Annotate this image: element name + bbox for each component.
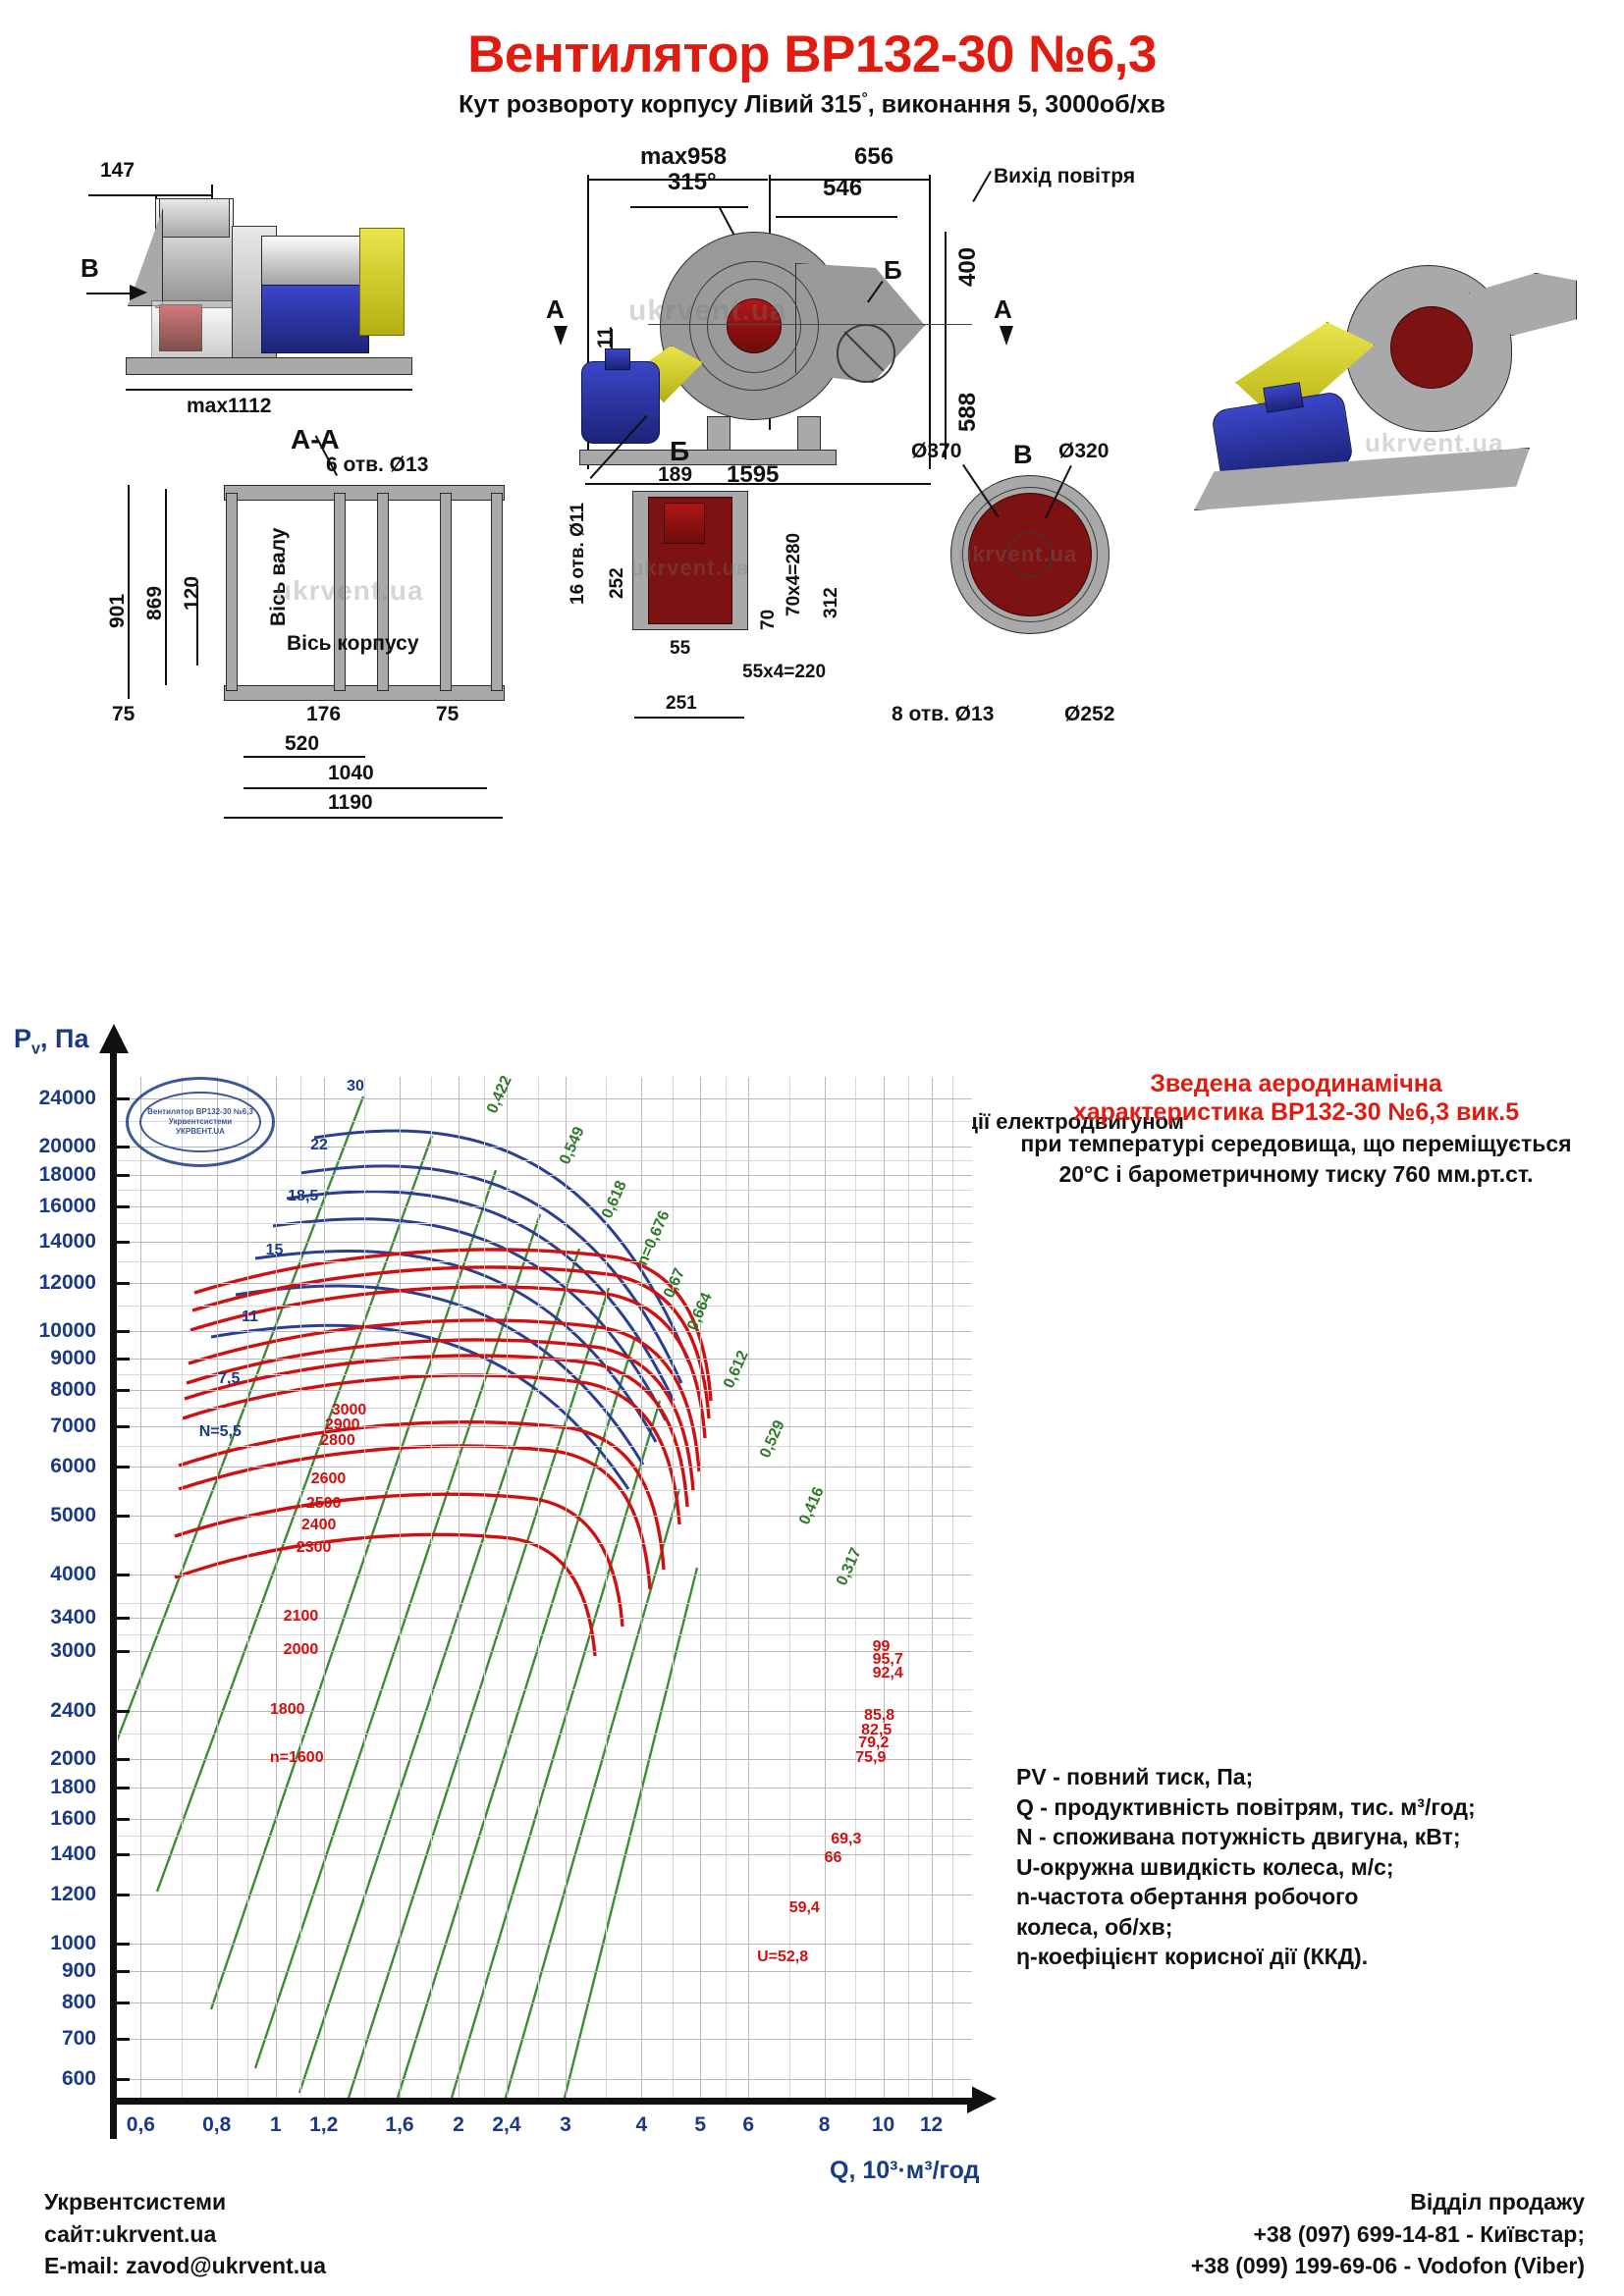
- chart-gridline-vertical: [641, 1077, 642, 2098]
- y-axis-tick-mark: [116, 1330, 130, 1333]
- chart-gridline-horizontal-minor: [118, 1446, 972, 1447]
- y-axis-tick-label: 900: [62, 1959, 96, 1983]
- chart-plot-area: [118, 1077, 972, 2098]
- legend-item-u: U-окружна швидкість колеса, м/с;: [1016, 1852, 1476, 1883]
- y-axis-tick-mark: [116, 1818, 130, 1821]
- chart-title-line1: Зведена аеродинамічна: [1001, 1070, 1591, 1098]
- chart-gridline-horizontal-minor: [118, 1543, 972, 1544]
- y-axis-tick-label: 12000: [39, 1271, 96, 1295]
- y-axis-tick-mark: [116, 1389, 130, 1392]
- chart-gridline-horizontal-minor: [118, 1374, 972, 1375]
- axis-body-label: Вісь корпусу: [287, 632, 419, 656]
- rpm-curve-label: 2000: [284, 1641, 319, 1659]
- chart-gridline-horizontal-minor: [118, 1490, 972, 1491]
- y-axis-tick-mark: [116, 1146, 130, 1148]
- view-arrow-B-line: [86, 293, 134, 294]
- chart-curves-svg: [118, 1077, 972, 2098]
- dim-line-147: [88, 194, 211, 196]
- chart-gridline-vertical-minor: [673, 1077, 674, 2098]
- chart-gridline-vertical: [140, 1077, 141, 2098]
- x-axis-tick-label: 2,4: [492, 2113, 520, 2137]
- dim-11: 11: [594, 327, 618, 348]
- y-axis-tick-label: 5000: [50, 1504, 96, 1527]
- chart-gridline-horizontal: [118, 1206, 972, 1207]
- chart-gridline-horizontal: [118, 1854, 972, 1855]
- dim-75-right: 75: [436, 703, 459, 726]
- chart-gridline-vertical-minor: [247, 1077, 248, 2098]
- x-axis: [110, 2098, 974, 2105]
- chart-gridline-vertical: [400, 1077, 401, 2098]
- tip-speed-label: 66: [825, 1849, 842, 1867]
- dim-252: 252: [607, 567, 628, 599]
- frame-top-rail: [224, 485, 505, 501]
- rpm-curve-label: 2400: [301, 1517, 337, 1534]
- dim-147: 147: [100, 159, 135, 183]
- frame-post-3: [377, 493, 389, 691]
- dim-176: 176: [306, 703, 341, 726]
- chart-gridline-horizontal: [118, 1944, 972, 1945]
- chart-gridline-vertical: [276, 1077, 277, 2098]
- side-view-motor: [261, 285, 369, 353]
- y-axis-tick-label: 4000: [50, 1563, 96, 1586]
- leader-16-holes: [590, 415, 648, 479]
- dim-400: 400: [954, 247, 982, 287]
- dim-1190: 1190: [328, 791, 373, 815]
- tip-speed-label: U=52,8: [757, 1949, 808, 1966]
- stamp-line-2: Укрвентсистеми: [169, 1117, 232, 1127]
- iso-inlet-cone: [1390, 306, 1473, 389]
- y-axis-tick-mark: [116, 1358, 130, 1361]
- chart-gridline-vertical-minor: [364, 1077, 365, 2098]
- legend-item-n-rpm-1: n-частота обертання робочого: [1016, 1882, 1476, 1912]
- company-stamp: Вентилятор ВР132-30 №6,3 Укрвентсистеми …: [126, 1077, 275, 1167]
- section-A-arrow-left: [554, 326, 568, 346]
- chart-gridline-horizontal-minor: [118, 1603, 972, 1604]
- section-AA-drawing: A-A 6 отв. Ø13 901 869 120 Вісь валу Віс…: [98, 402, 550, 825]
- chart-gridline-horizontal: [118, 1618, 972, 1619]
- chart-gridline-vertical-minor: [538, 1077, 539, 2098]
- chart-gridline-horizontal-minor: [118, 1634, 972, 1635]
- outlet-label: Вихід повітря: [994, 165, 1135, 188]
- x-axis-tick-label: 2: [453, 2113, 464, 2137]
- chart-gridline-horizontal: [118, 1467, 972, 1468]
- detail-B-inner-box: [664, 503, 705, 544]
- chart-gridline-horizontal: [118, 1242, 972, 1243]
- dim-16-holes-11: 16 отв. Ø11: [568, 503, 589, 605]
- chart-gridline-vertical-minor: [606, 1077, 607, 2098]
- chart-gridline-horizontal: [118, 1895, 972, 1896]
- power-curve-label: 18,5: [288, 1188, 318, 1205]
- detail-B-drawing: Б 189 16 отв. Ø11 252 70х4=280 312 70 55…: [560, 422, 884, 756]
- chart-gridline-vertical: [507, 1077, 508, 2098]
- x-axis-tick-label: 5: [694, 2113, 706, 2137]
- page-subtitle: Кут розвороту корпусу Лівий 315°, викона…: [0, 90, 1624, 119]
- dim-252: Ø252: [1064, 703, 1114, 726]
- frame-post-5: [491, 493, 503, 691]
- dim-70: 70: [758, 610, 780, 630]
- dim-line-546: [776, 216, 897, 218]
- company-stamp-inner: Вентилятор ВР132-30 №6,3 Укрвентсистеми …: [139, 1092, 261, 1152]
- chart-gridline-horizontal: [118, 2039, 972, 2040]
- y-axis-tick-label: 2400: [50, 1699, 96, 1723]
- y-axis-tick-label: 9000: [50, 1347, 96, 1370]
- x-axis-tick-label: 4: [635, 2113, 647, 2137]
- chart-gridline-vertical-minor: [182, 1077, 183, 2098]
- y-axis-tick-mark: [116, 1241, 130, 1244]
- dim-546: 546: [823, 175, 862, 202]
- chart-legend-block: PV - повний тиск, Па; Q - продуктивність…: [1016, 1762, 1476, 1972]
- chart-gridline-horizontal-minor: [118, 1261, 972, 1262]
- view-V-drawing: В Ø370 Ø320 Ø252 8 отв. Ø13 ukrvent.ua: [884, 422, 1178, 736]
- dim-6-holes-13: 6 отв. Ø13: [326, 454, 428, 477]
- x-axis-tick-label: 3: [560, 2113, 571, 2137]
- power-curve-label: 22: [310, 1137, 328, 1154]
- dim-55: 55: [670, 638, 690, 660]
- y-axis-tick-mark: [116, 1097, 130, 1100]
- tip-speed-label: 92,4: [873, 1665, 903, 1682]
- chart-title-line2: характеристика ВР132-30 №6,3 вик.5: [1001, 1098, 1591, 1127]
- frame-post-1: [226, 493, 238, 691]
- page-footer: Укрвентсистеми сайт:ukrvent.ua E-mail: z…: [0, 2174, 1624, 2296]
- footer-phone-1[interactable]: +38 (097) 699-14-81 - Київстар;: [1191, 2218, 1585, 2251]
- dim-line-1190: [224, 817, 503, 819]
- frame-post-2: [334, 493, 346, 691]
- dim-251: 251: [666, 693, 697, 715]
- chart-gridline-horizontal-minor: [118, 1306, 972, 1307]
- chart-gridline-horizontal: [118, 1359, 972, 1360]
- legend-item-n-power: N - споживана потужність двигуна, кВт;: [1016, 1822, 1476, 1852]
- chart-gridline-horizontal: [118, 1283, 972, 1284]
- footer-sales-block: Відділ продажу +38 (097) 699-14-81 - Киї…: [1191, 2186, 1585, 2282]
- y-axis-tick-mark: [116, 1787, 130, 1789]
- power-curve-label: 11: [242, 1308, 258, 1326]
- subtitle-pre: Кут розвороту корпусу Лівий 315: [459, 90, 861, 118]
- chart-gridline-horizontal: [118, 1331, 972, 1332]
- y-axis-tick-label: 6000: [50, 1455, 96, 1478]
- y-axis-tick-label: 14000: [39, 1230, 96, 1254]
- chart-gridline-horizontal-minor: [118, 1689, 972, 1690]
- x-axis-tick-label: 1,2: [309, 2113, 338, 2137]
- y-axis-tick-mark: [116, 1943, 130, 1946]
- efficiency-lines: [118, 1096, 697, 2098]
- view-V-hub-circle: [1007, 532, 1053, 577]
- y-axis-tick-label: 16000: [39, 1195, 96, 1218]
- y-axis-tick-mark: [116, 1205, 130, 1208]
- page-header: Вентилятор ВР132-30 №6,3 Кут розвороту к…: [0, 27, 1624, 119]
- chart-gridline-vertical-minor: [908, 1077, 909, 2098]
- power-curve-label: N=5,5: [199, 1423, 242, 1441]
- x-axis-tick-label: 0,8: [202, 2113, 231, 2137]
- x-axis-tick-label: 0,6: [127, 2113, 155, 2137]
- tip-speed-label: 69,3: [831, 1831, 861, 1848]
- footer-website[interactable]: сайт:ukrvent.ua: [44, 2218, 326, 2251]
- chart-gridline-vertical-minor: [855, 1077, 856, 2098]
- chart-gridline-horizontal: [118, 1759, 972, 1760]
- chart-gridline-horizontal: [118, 1788, 972, 1789]
- stamp-line-1: Вентилятор ВР132-30 №6,3: [147, 1107, 253, 1117]
- dim-312: 312: [821, 587, 842, 618]
- view-V-title: В: [1013, 440, 1033, 470]
- tip-speed-label: 75,9: [855, 1749, 886, 1767]
- y-axis-tick-mark: [116, 2002, 130, 2004]
- y-axis-tick-label: 700: [62, 2027, 96, 2051]
- chart-gridline-horizontal: [118, 1390, 972, 1391]
- legend-item-q: Q - продуктивність повітрям, тис. м³/год…: [1016, 1792, 1476, 1823]
- section-A-left: A: [546, 294, 565, 325]
- dim-line-max1112: [126, 389, 412, 391]
- rpm-curve-label: 2100: [284, 1608, 319, 1626]
- chart-gridline-horizontal: [118, 1651, 972, 1652]
- y-axis-tick-mark: [116, 1466, 130, 1468]
- chart-gridline-horizontal-minor: [118, 1190, 972, 1191]
- chart-gridline-horizontal: [118, 1175, 972, 1176]
- chart-gridline-horizontal-minor: [118, 1734, 972, 1735]
- chart-gridline-horizontal: [118, 1516, 972, 1517]
- dim-8-holes-13: 8 отв. Ø13: [892, 703, 994, 726]
- section-AA-title: A-A: [291, 424, 340, 455]
- chart-gridline-vertical: [459, 1077, 460, 2098]
- isometric-view: ukrvent.ua: [1159, 255, 1581, 550]
- chart-gridline-vertical: [825, 1077, 826, 2098]
- axis-shaft-label: Вісь валу: [267, 528, 291, 626]
- y-axis-tick-label: 8000: [50, 1378, 96, 1402]
- chart-gridline-vertical-minor: [726, 1077, 727, 2098]
- y-axis-tick-mark: [116, 1174, 130, 1177]
- chart-gridline-vertical-minor: [952, 1077, 953, 2098]
- y-axis-tick-label: 800: [62, 1991, 96, 2014]
- chart-gridline-vertical-minor: [431, 1077, 432, 2098]
- section-A-right: A: [994, 294, 1012, 325]
- tip-speed-label: 59,4: [789, 1899, 820, 1917]
- view-mark-B: В: [81, 253, 99, 284]
- y-axis-tick-mark: [116, 1853, 130, 1856]
- chart-gridline-vertical: [748, 1077, 749, 2098]
- legend-item-n-rpm-2: колеса, об/хв;: [1016, 1912, 1476, 1943]
- dim-line-869: [165, 489, 167, 685]
- y-axis-tick-mark: [116, 2078, 130, 2081]
- y-axis-tick-mark: [116, 1650, 130, 1653]
- subtitle-post: , виконання 5, 3000об/хв: [868, 90, 1165, 118]
- dim-max958: max958: [640, 143, 727, 171]
- y-axis-tick-mark: [116, 1710, 130, 1713]
- chart-gridline-horizontal-minor: [118, 1223, 972, 1224]
- chart-gridline-horizontal: [118, 2002, 972, 2003]
- y-axis-tick-mark: [116, 1970, 130, 1973]
- chart-gridline-horizontal-minor: [118, 1408, 972, 1409]
- chart-subtitle-line1: при температурі середовища, що переміщує…: [1001, 1131, 1591, 1158]
- chart-gridline-horizontal: [118, 1426, 972, 1427]
- dim-189: 189: [658, 463, 692, 487]
- motor-terminal-box: [605, 348, 630, 370]
- rpm-curve-label: 2800: [320, 1432, 355, 1450]
- chart-gridline-vertical-minor: [484, 1077, 485, 2098]
- page-title: Вентилятор ВР132-30 №6,3: [0, 27, 1624, 82]
- y-axis-tick-label: 3000: [50, 1639, 96, 1663]
- footer-phone-2[interactable]: +38 (099) 199-69-06 - Vodofon (Viber): [1191, 2250, 1585, 2282]
- rpm-curve-label: n=1600: [270, 1749, 324, 1767]
- power-curve-label: 7,5: [218, 1370, 240, 1388]
- y-axis-tick-label: 1400: [50, 1842, 96, 1866]
- dim-220: 55х4=220: [742, 662, 826, 683]
- legend-item-eta: η-коефіцієнт корисної дії (ККД).: [1016, 1942, 1476, 1972]
- x-axis-tick-label: 12: [920, 2113, 943, 2137]
- legend-item-pv: PV - повний тиск, Па;: [1016, 1762, 1476, 1792]
- rpm-curve-label: 1800: [270, 1701, 305, 1719]
- chart-gridline-vertical: [932, 1077, 933, 2098]
- dim-120: 120: [181, 576, 204, 611]
- watermark-AA: ukrvent.ua: [275, 575, 424, 607]
- dim-520: 520: [285, 732, 319, 756]
- footer-company-name: Укрвентсистеми: [44, 2186, 326, 2218]
- side-view-housing-top: [159, 198, 230, 238]
- y-axis-tick-label: 1200: [50, 1883, 96, 1906]
- chart-gridline-vertical: [700, 1077, 701, 2098]
- y-axis-tick-mark: [116, 1617, 130, 1620]
- section-A-arrow-right: [1000, 326, 1013, 346]
- frame-post-4: [440, 493, 452, 691]
- x-axis-tick-label: 1,6: [385, 2113, 413, 2137]
- dim-656: 656: [854, 143, 893, 171]
- dim-line-901: [128, 485, 130, 699]
- chart-gridline-vertical-minor: [789, 1077, 790, 2098]
- y-axis-tick-mark: [116, 1282, 130, 1285]
- y-axis-tick-mark: [116, 1574, 130, 1576]
- chart-gridline-vertical: [566, 1077, 567, 2098]
- chart-gridline-vertical: [324, 1077, 325, 2098]
- mark-B-cyr: Б: [884, 255, 902, 286]
- footer-email[interactable]: E-mail: zavod@ukrvent.ua: [44, 2250, 326, 2282]
- dim-line-120: [196, 585, 198, 666]
- dim-line-1040: [244, 787, 487, 789]
- chart-gridline-horizontal: [118, 1819, 972, 1820]
- stamp-line-3: УКРВЕНТ.UA: [176, 1127, 225, 1137]
- power-curve-label: 15: [266, 1242, 284, 1259]
- side-view-belt-guard: [359, 228, 405, 336]
- y-axis-tick-mark: [116, 1425, 130, 1428]
- chart-gridline-vertical-minor: [300, 1077, 301, 2098]
- dim-1040: 1040: [328, 762, 374, 785]
- rpm-curve-label: 3000: [332, 1402, 367, 1419]
- dim-line-400: [945, 232, 947, 326]
- y-axis-tick-label: 2000: [50, 1747, 96, 1771]
- technical-drawings: 147 В max1112 max958 656 315° 546: [0, 128, 1624, 1011]
- chart-gridline-horizontal: [118, 1711, 972, 1712]
- leader-315: [630, 206, 748, 208]
- dim-315deg: 315°: [668, 169, 717, 196]
- chart-gridline-horizontal: [118, 2079, 972, 2080]
- view-arrow-B-head: [130, 285, 147, 300]
- dim-869: 869: [143, 586, 167, 620]
- impeller-hub: [727, 298, 782, 353]
- y-axis-tick-label: 7000: [50, 1415, 96, 1438]
- x-axis-tick-label: 6: [742, 2113, 754, 2137]
- side-view-frame: [151, 300, 238, 359]
- centerline-horizontal: [648, 324, 972, 325]
- performance-chart: Pv, Па Q, 10³·м³/год: [0, 1016, 1624, 2174]
- side-view-base-frame: [126, 357, 412, 375]
- y-axis-tick-label: 20000: [39, 1135, 96, 1158]
- y-axis-tick-mark: [116, 2038, 130, 2041]
- y-axis-tick-label: 1000: [50, 1932, 96, 1955]
- chart-y-axis-label: Pv, Па: [14, 1024, 88, 1058]
- y-axis-tick-mark: [116, 1894, 130, 1896]
- power-curve-label: 30: [347, 1078, 364, 1095]
- rpm-curve-label: 2300: [297, 1539, 332, 1557]
- frame-bottom-rail: [224, 685, 505, 701]
- chart-subtitle-line2: 20°С і барометричному тиску 760 мм.рт.ст…: [1001, 1161, 1591, 1189]
- outlet-arrow: [972, 171, 992, 202]
- y-axis-tick-mark: [116, 1515, 130, 1518]
- footer-company-block: Укрвентсистеми сайт:ukrvent.ua E-mail: z…: [44, 2186, 326, 2282]
- dim-75-left: 75: [112, 703, 135, 726]
- x-axis-tick-label: 8: [819, 2113, 831, 2137]
- y-axis-tick-mark: [116, 1758, 130, 1761]
- chart-gridline-horizontal: [118, 1971, 972, 1972]
- x-axis-tick-label: 1: [270, 2113, 282, 2137]
- x-axis-tick-label: 10: [872, 2113, 894, 2137]
- chart-gridline-vertical: [217, 1077, 218, 2098]
- rpm-curve-label: 2500: [306, 1495, 342, 1513]
- y-axis: [110, 1049, 117, 2139]
- footer-sales-title: Відділ продажу: [1191, 2186, 1585, 2218]
- y-axis-tick-label: 18000: [39, 1163, 96, 1187]
- chart-gridline-horizontal-minor: [118, 1160, 972, 1161]
- y-axis-tick-label: 24000: [39, 1087, 96, 1110]
- chart-gridline-vertical: [884, 1077, 885, 2098]
- y-axis-tick-label: 10000: [39, 1319, 96, 1343]
- dim-320: Ø320: [1058, 440, 1109, 463]
- dim-line-251: [634, 717, 744, 719]
- dim-line-520: [244, 756, 365, 758]
- dim-370: Ø370: [911, 440, 961, 463]
- y-axis-tick-label: 3400: [50, 1606, 96, 1629]
- y-axis-tick-label: 1800: [50, 1776, 96, 1799]
- y-axis-tick-label: 1600: [50, 1807, 96, 1831]
- chart-title-block: Зведена аеродинамічна характеристика ВР1…: [1001, 1070, 1591, 1189]
- y-axis-tick-label: 600: [62, 2067, 96, 2091]
- side-view-drawing: 147 В max1112: [69, 137, 363, 412]
- rpm-curve-label: 2600: [311, 1470, 347, 1488]
- dim-901: 901: [106, 594, 130, 628]
- dim-280: 70х4=280: [784, 533, 805, 616]
